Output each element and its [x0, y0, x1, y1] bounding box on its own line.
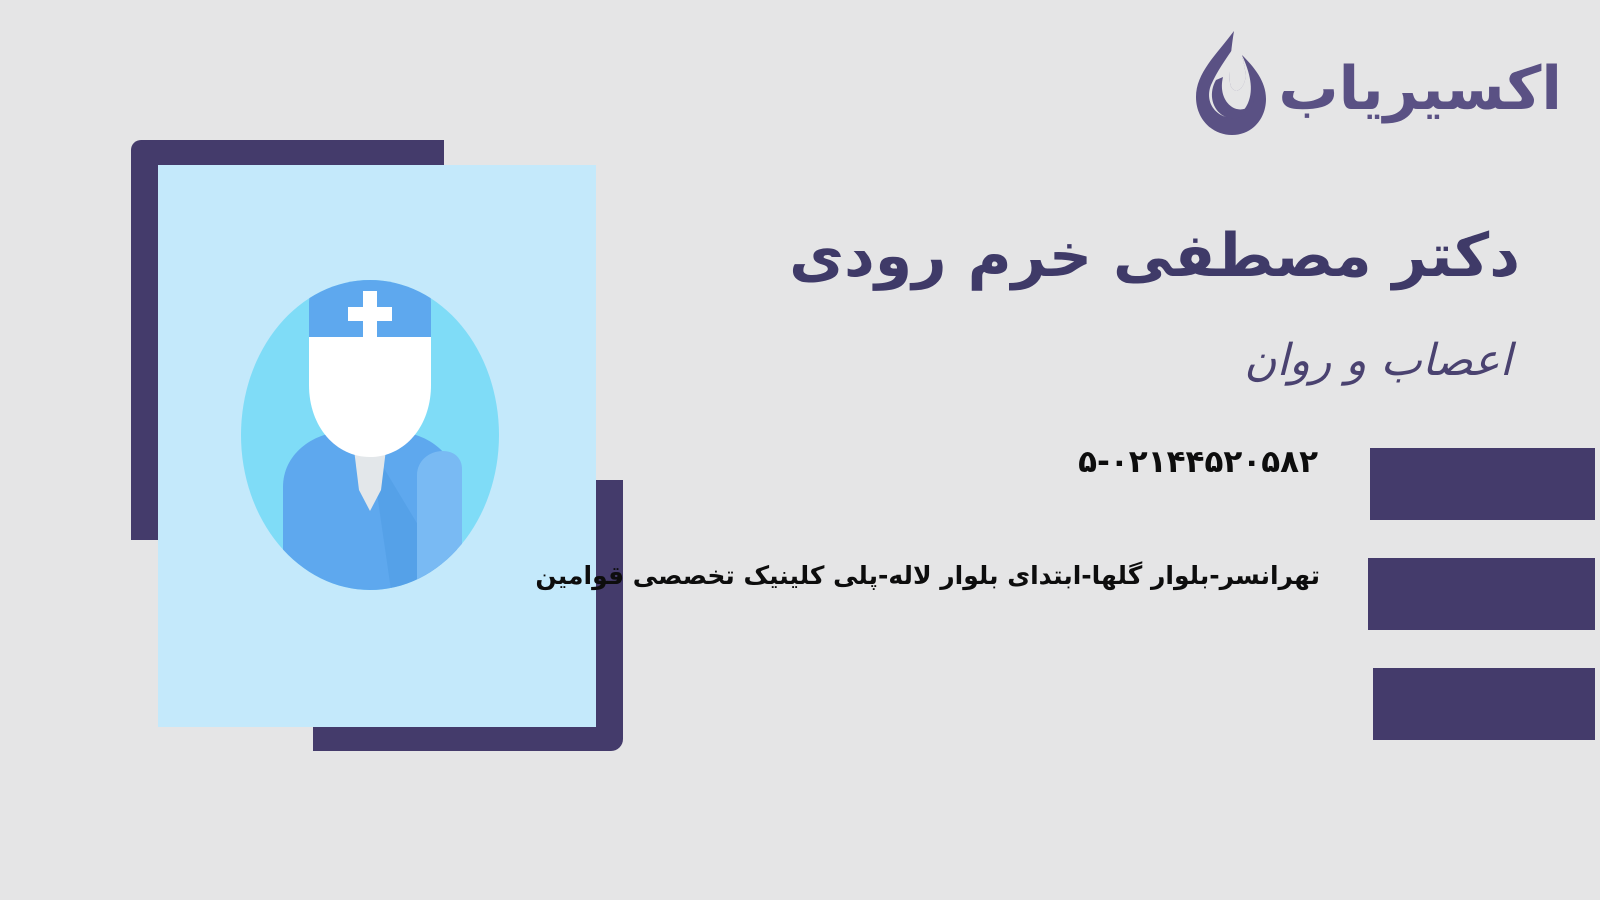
doctor-avatar-icon: [241, 275, 499, 590]
doctor-name: دکتر مصطفی خرم رودی: [620, 222, 1520, 291]
doctor-address: تهرانسر-بلوار گلها-ابتدای بلوار لاله-پلی…: [520, 560, 1320, 593]
brand-logo[interactable]: اکسیریاب: [1190, 28, 1562, 138]
brand-wordmark: اکسیریاب: [1278, 59, 1562, 119]
doctor-phone[interactable]: ۵-۰۲۱۴۴۵۲۰۵۸۲: [618, 444, 1318, 481]
decor-bar-1: [1370, 448, 1595, 520]
decor-bar-2: [1368, 558, 1595, 630]
doctor-specialty: اعصاب و روان: [612, 335, 1512, 388]
doctor-profile-banner: اکسیریاب: [0, 0, 1600, 900]
avatar: [241, 275, 499, 590]
doctor-illustration: [131, 140, 626, 755]
decor-bar-3: [1373, 668, 1595, 740]
flame-drop-icon: [1190, 29, 1268, 137]
